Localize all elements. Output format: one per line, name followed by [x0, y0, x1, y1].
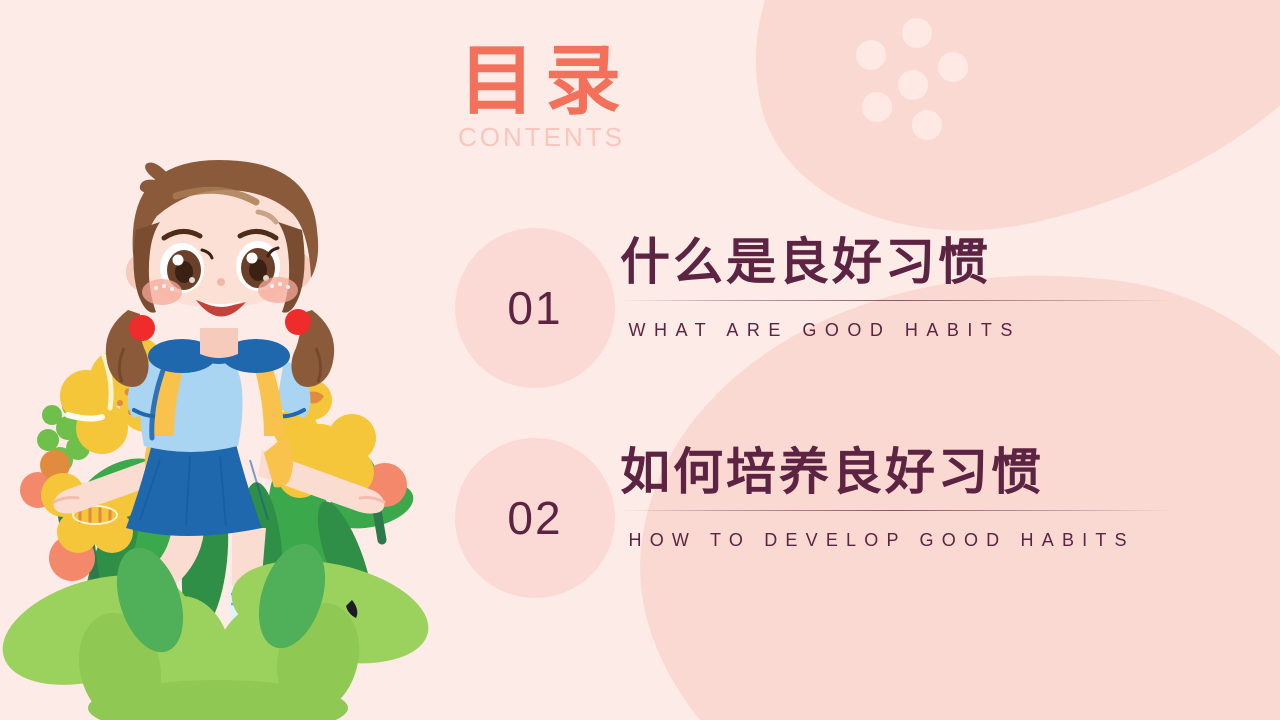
contents-entry-01[interactable]: 01 什么是良好习惯 WHAT ARE GOOD HABITS — [455, 228, 1185, 388]
entry-number-badge-02: 02 — [455, 438, 615, 598]
entry-title-chinese-01: 什么是良好习惯 — [620, 234, 1180, 290]
decorative-dot — [938, 52, 968, 82]
contents-entry-02[interactable]: 02 如何培养良好习惯 HOW TO DEVELOP GOOD HABITS — [455, 438, 1185, 598]
decorative-dot — [912, 110, 942, 140]
page-title-block: 目录 CONTENTS — [380, 44, 700, 150]
entry-number-01: 01 — [507, 281, 562, 335]
entry-divider-01 — [620, 300, 1173, 301]
girl-head — [126, 160, 318, 317]
entry-title-english-02: HOW TO DEVELOP GOOD HABITS — [620, 531, 1180, 549]
page-title-chinese: 目录 — [380, 44, 700, 120]
decorative-dot — [862, 92, 892, 122]
entry-title-english-01: WHAT ARE GOOD HABITS — [620, 321, 1180, 339]
slide-root: 目录 CONTENTS 01 什么是良好习惯 WHAT ARE GOOD HAB… — [0, 0, 1280, 720]
entry-number-badge-01: 01 — [455, 228, 615, 388]
entry-text-block-01: 什么是良好习惯 WHAT ARE GOOD HABITS — [620, 234, 1180, 339]
decorative-dot — [856, 40, 886, 70]
entry-title-chinese-02: 如何培养良好习惯 — [620, 444, 1180, 500]
entry-divider-02 — [620, 510, 1173, 511]
entry-number-02: 02 — [507, 491, 562, 545]
entry-text-block-02: 如何培养良好习惯 HOW TO DEVELOP GOOD HABITS — [620, 444, 1180, 549]
contents-list: 01 什么是良好习惯 WHAT ARE GOOD HABITS 02 如何培养良… — [455, 228, 1185, 598]
decorative-dot — [902, 18, 932, 48]
decorative-dot — [898, 70, 928, 100]
dot-cluster-decoration — [856, 18, 1016, 148]
girl-illustration — [0, 160, 440, 720]
page-title-english: CONTENTS — [380, 124, 700, 150]
